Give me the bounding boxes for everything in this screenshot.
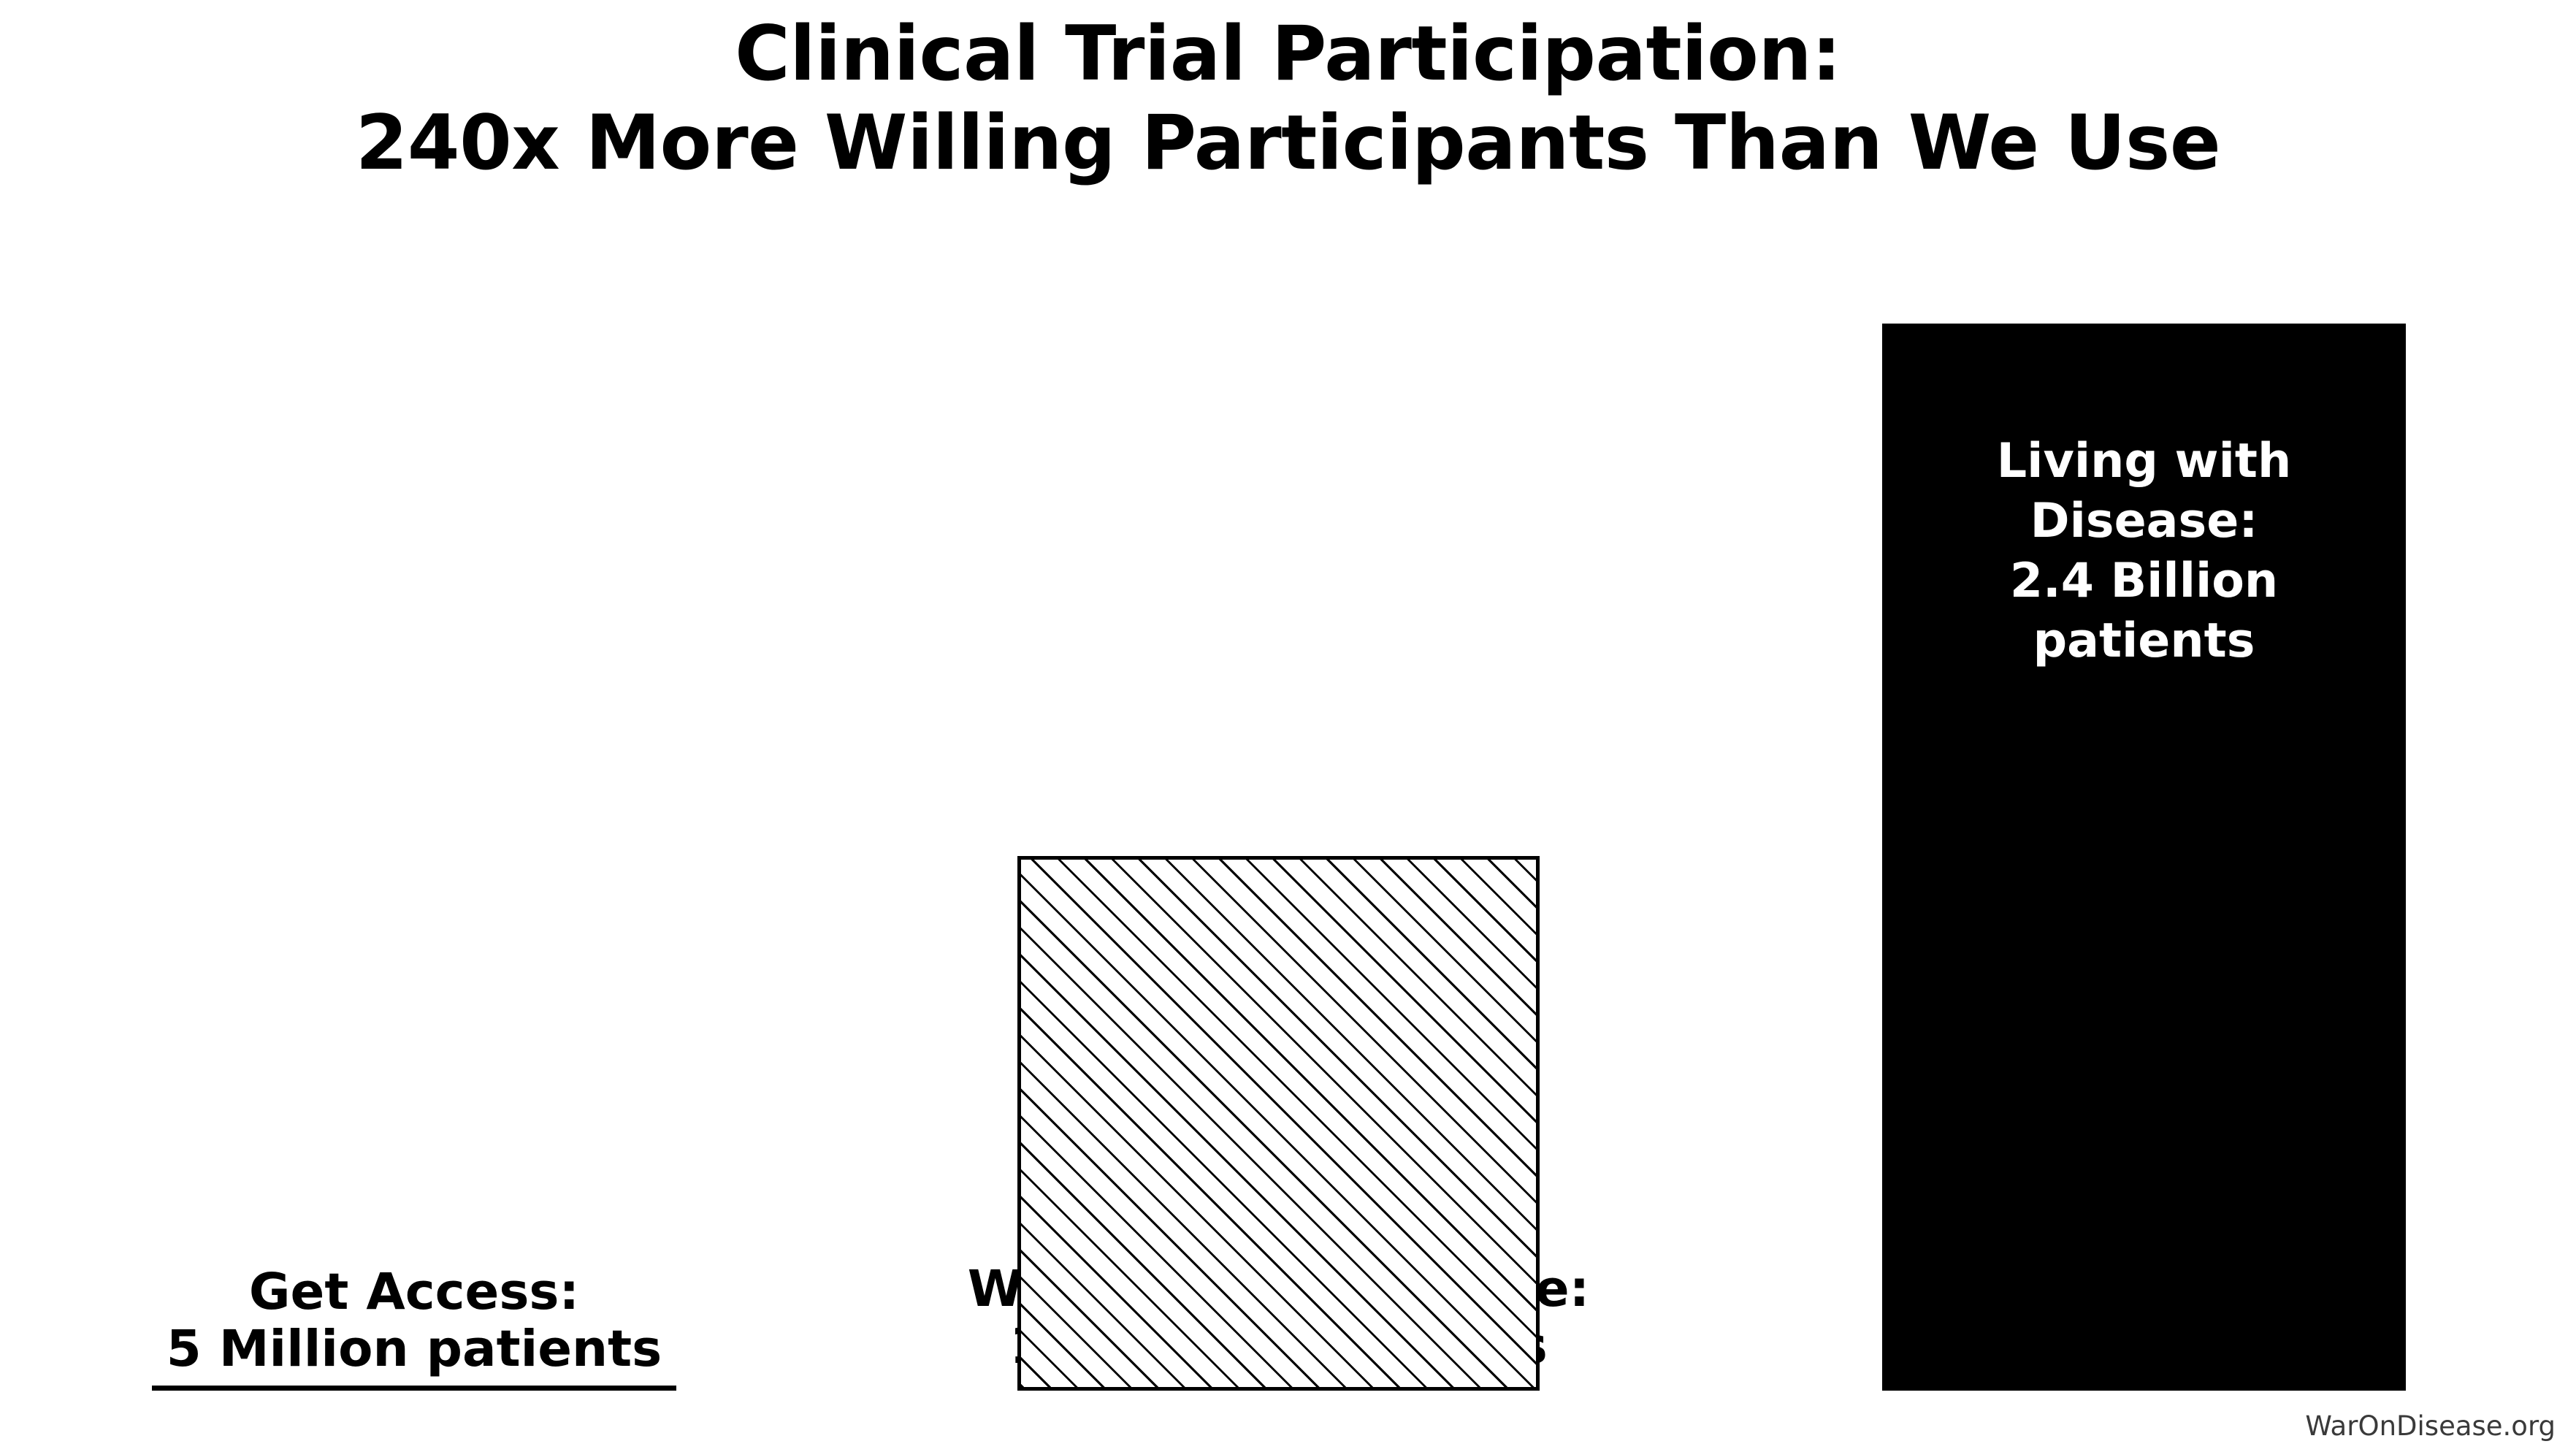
watermark-source: WarOnDisease.org <box>2305 1410 2556 1442</box>
bar-label-living-with-disease: Living with Disease: 2.4 Billion patient… <box>1962 432 2327 671</box>
bar-label-get-access: Get Access: 5 Million patients <box>12 1264 816 1391</box>
bar-get-access <box>152 1386 676 1391</box>
bar-living-with-disease: Living with Disease: 2.4 Billion patient… <box>1882 324 2406 1391</box>
bar-willing-to-participate <box>1017 856 1540 1391</box>
chart-canvas: Clinical Trial Participation: 240x More … <box>0 0 2576 1452</box>
plot-area: Get Access: 5 Million patients Willing t… <box>0 0 2576 1452</box>
